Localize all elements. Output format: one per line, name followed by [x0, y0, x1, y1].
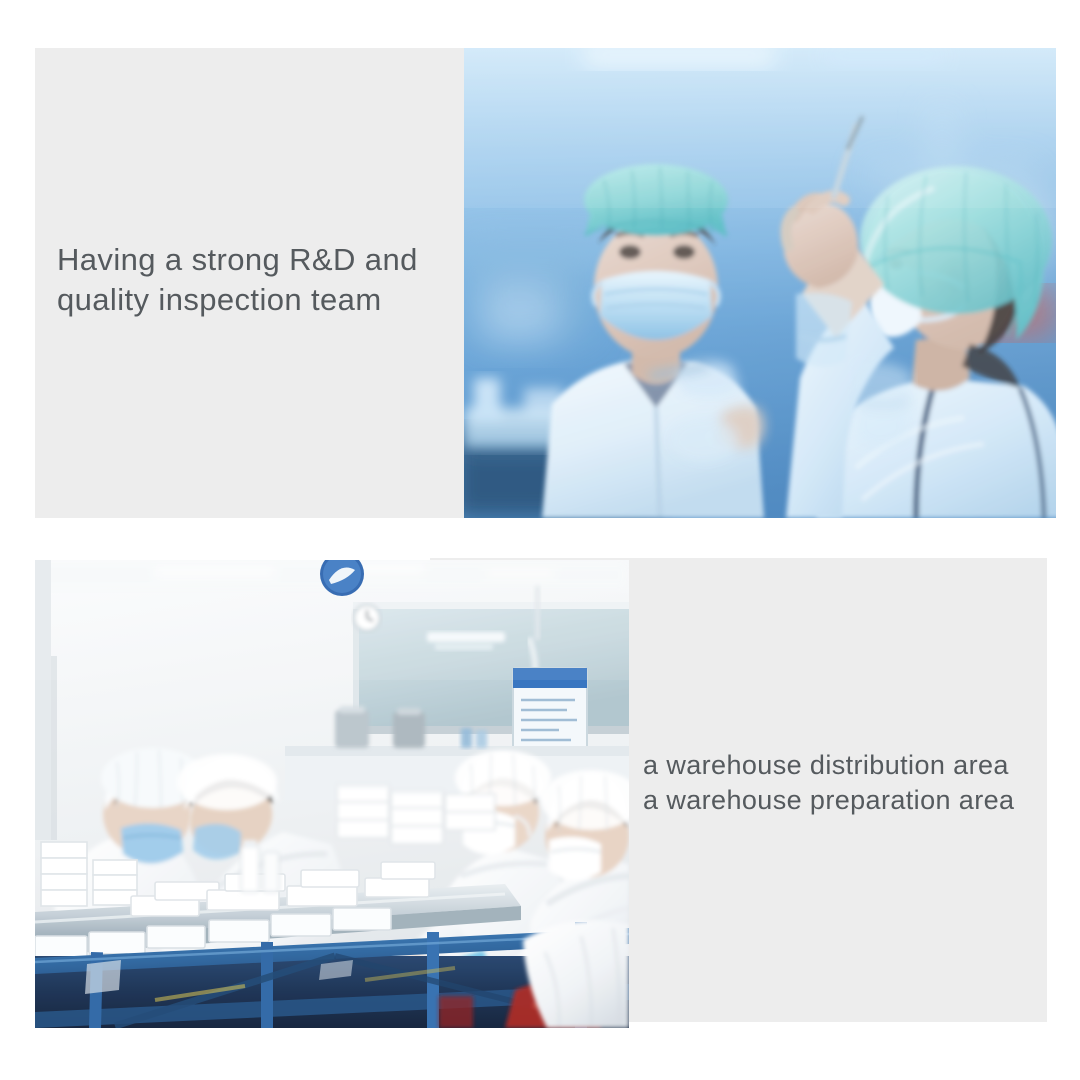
rnd-lab-photo — [464, 48, 1056, 518]
page-canvas: Having a strong R&D and quality inspecti… — [0, 0, 1080, 1080]
rnd-caption-text: Having a strong R&D and quality inspecti… — [57, 240, 457, 320]
warehouse-caption-text: a warehouse distribution area a warehous… — [643, 748, 1043, 818]
warehouse-packing-photo — [35, 560, 629, 1028]
